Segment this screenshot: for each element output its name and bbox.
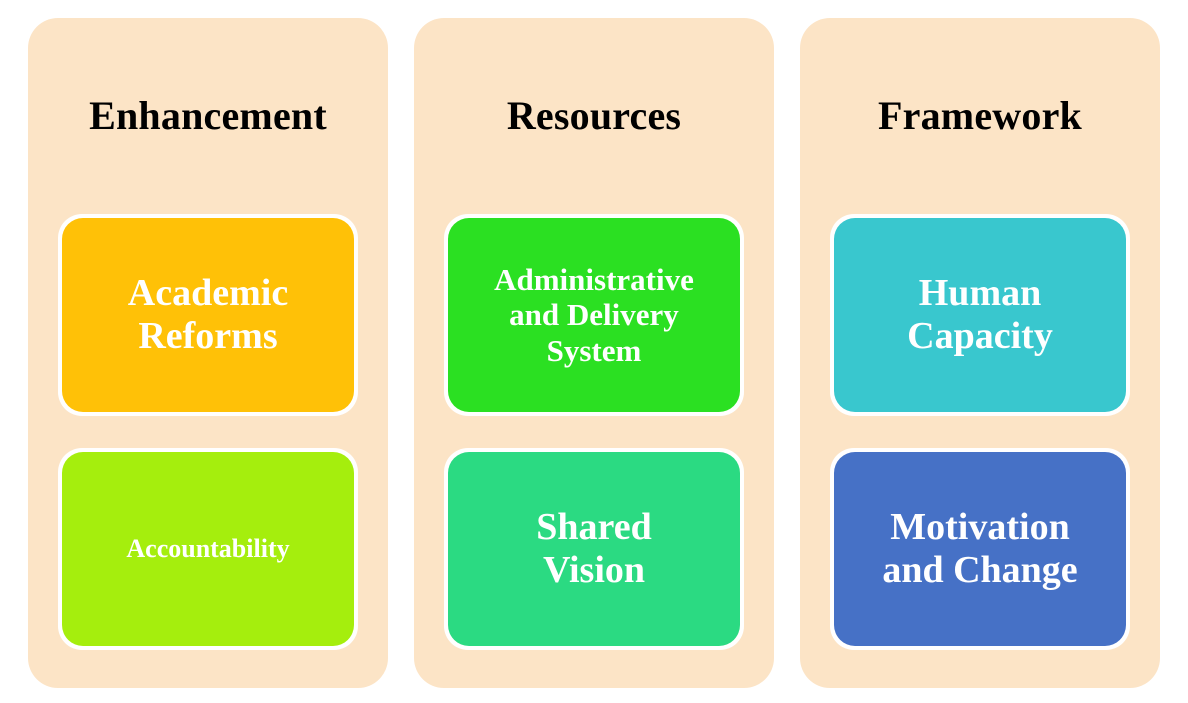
card-label-shared-vision: Shared Vision (526, 506, 661, 592)
card-shared-vision[interactable]: Shared Vision (444, 448, 744, 650)
card-administrative-and-delivery-system[interactable]: Administrative and Delivery System (444, 214, 744, 416)
card-label-academic-reforms: Academic Reforms (118, 272, 298, 358)
card-fill-administrative-and-delivery-system: Administrative and Delivery System (448, 218, 740, 412)
card-label-accountability: Accountability (116, 534, 299, 563)
column-enhancement: Enhancement Academic Reforms Accountabil… (28, 18, 388, 688)
card-label-human-capacity: Human Capacity (897, 272, 1063, 358)
card-fill-shared-vision: Shared Vision (448, 452, 740, 646)
column-title-framework: Framework (800, 18, 1160, 214)
card-fill-academic-reforms: Academic Reforms (62, 218, 354, 412)
card-fill-human-capacity: Human Capacity (834, 218, 1126, 412)
card-label-motivation-and-change: Motivation and Change (872, 506, 1087, 592)
column-title-enhancement: Enhancement (28, 18, 388, 214)
card-label-administrative-and-delivery-system: Administrative and Delivery System (484, 262, 704, 367)
card-academic-reforms[interactable]: Academic Reforms (58, 214, 358, 416)
column-framework: Framework Human Capacity Motivation and … (800, 18, 1160, 688)
card-motivation-and-change[interactable]: Motivation and Change (830, 448, 1130, 650)
column-title-resources: Resources (414, 18, 774, 214)
card-accountability[interactable]: Accountability (58, 448, 358, 650)
column-resources: Resources Administrative and Delivery Sy… (414, 18, 774, 688)
diagram-board: Enhancement Academic Reforms Accountabil… (0, 0, 1188, 703)
card-fill-motivation-and-change: Motivation and Change (834, 452, 1126, 646)
card-human-capacity[interactable]: Human Capacity (830, 214, 1130, 416)
card-fill-accountability: Accountability (62, 452, 354, 646)
